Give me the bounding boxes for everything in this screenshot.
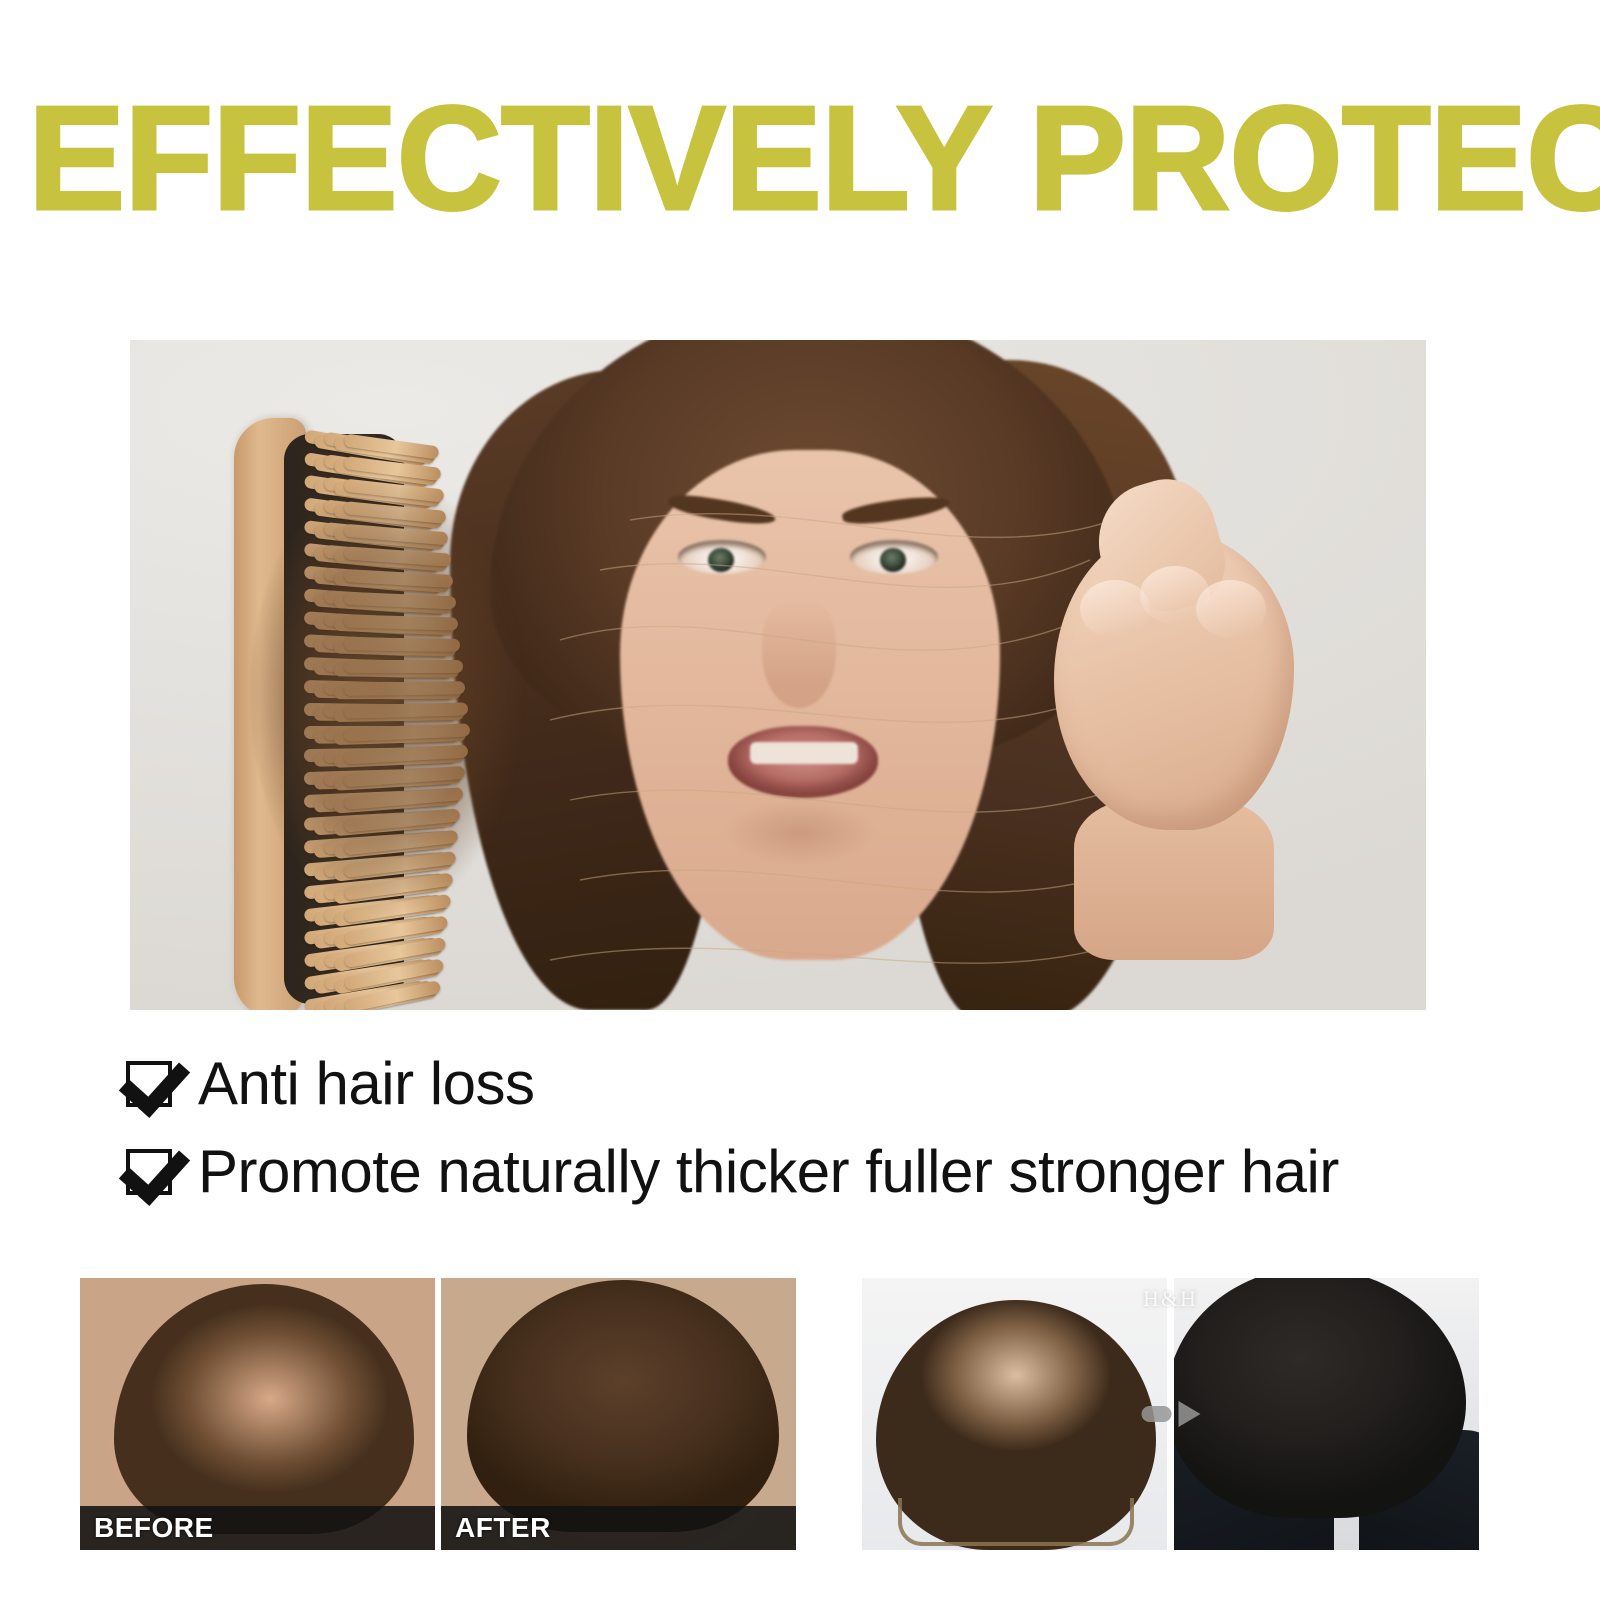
thinning-hair-dome (114, 1284, 414, 1534)
after-caption: AFTER (441, 1506, 796, 1550)
before-caption-text: BEFORE (80, 1512, 214, 1544)
checked-checkbox-icon (126, 1061, 172, 1107)
arrow-head (1178, 1401, 1200, 1427)
after-photo: AFTER (441, 1278, 796, 1550)
benefit-item-anti-hair-loss: Anti hair loss (126, 1040, 1476, 1128)
knuckle-3 (1196, 580, 1266, 638)
after-caption-text: AFTER (441, 1512, 551, 1544)
full-crown-hair (1174, 1278, 1466, 1518)
checked-checkbox-icon (126, 1149, 172, 1195)
before-photo: BEFORE (80, 1278, 435, 1550)
poster-canvas: EFFECTIVELY PROTECT SCALP (0, 0, 1600, 1600)
hero-illustration (130, 340, 1426, 1010)
before-after-pair-left: BEFORE AFTER (80, 1278, 797, 1550)
benefit-label: Promote naturally thicker fuller stronge… (198, 1141, 1339, 1203)
crown-after-photo (1174, 1278, 1479, 1550)
hand-fist (1044, 470, 1314, 950)
crown-before-photo (862, 1278, 1167, 1550)
benefit-item-thicker-hair: Promote naturally thicker fuller stronge… (126, 1128, 1476, 1216)
benefits-list: Anti hair loss Promote naturally thicker… (126, 1040, 1476, 1216)
progress-arrow-icon (1141, 1401, 1200, 1427)
benefit-label: Anti hair loss (198, 1053, 534, 1115)
full-hair-dome (467, 1280, 779, 1532)
before-caption: BEFORE (80, 1506, 435, 1550)
before-after-pair-right: H&H (862, 1278, 1479, 1550)
knuckle-1 (1080, 580, 1150, 638)
hero-image (130, 340, 1426, 1010)
page-title: EFFECTIVELY PROTECT SCALP (28, 86, 1549, 232)
arrow-stub (1141, 1406, 1171, 1422)
eyeglasses-icon (898, 1498, 1134, 1546)
